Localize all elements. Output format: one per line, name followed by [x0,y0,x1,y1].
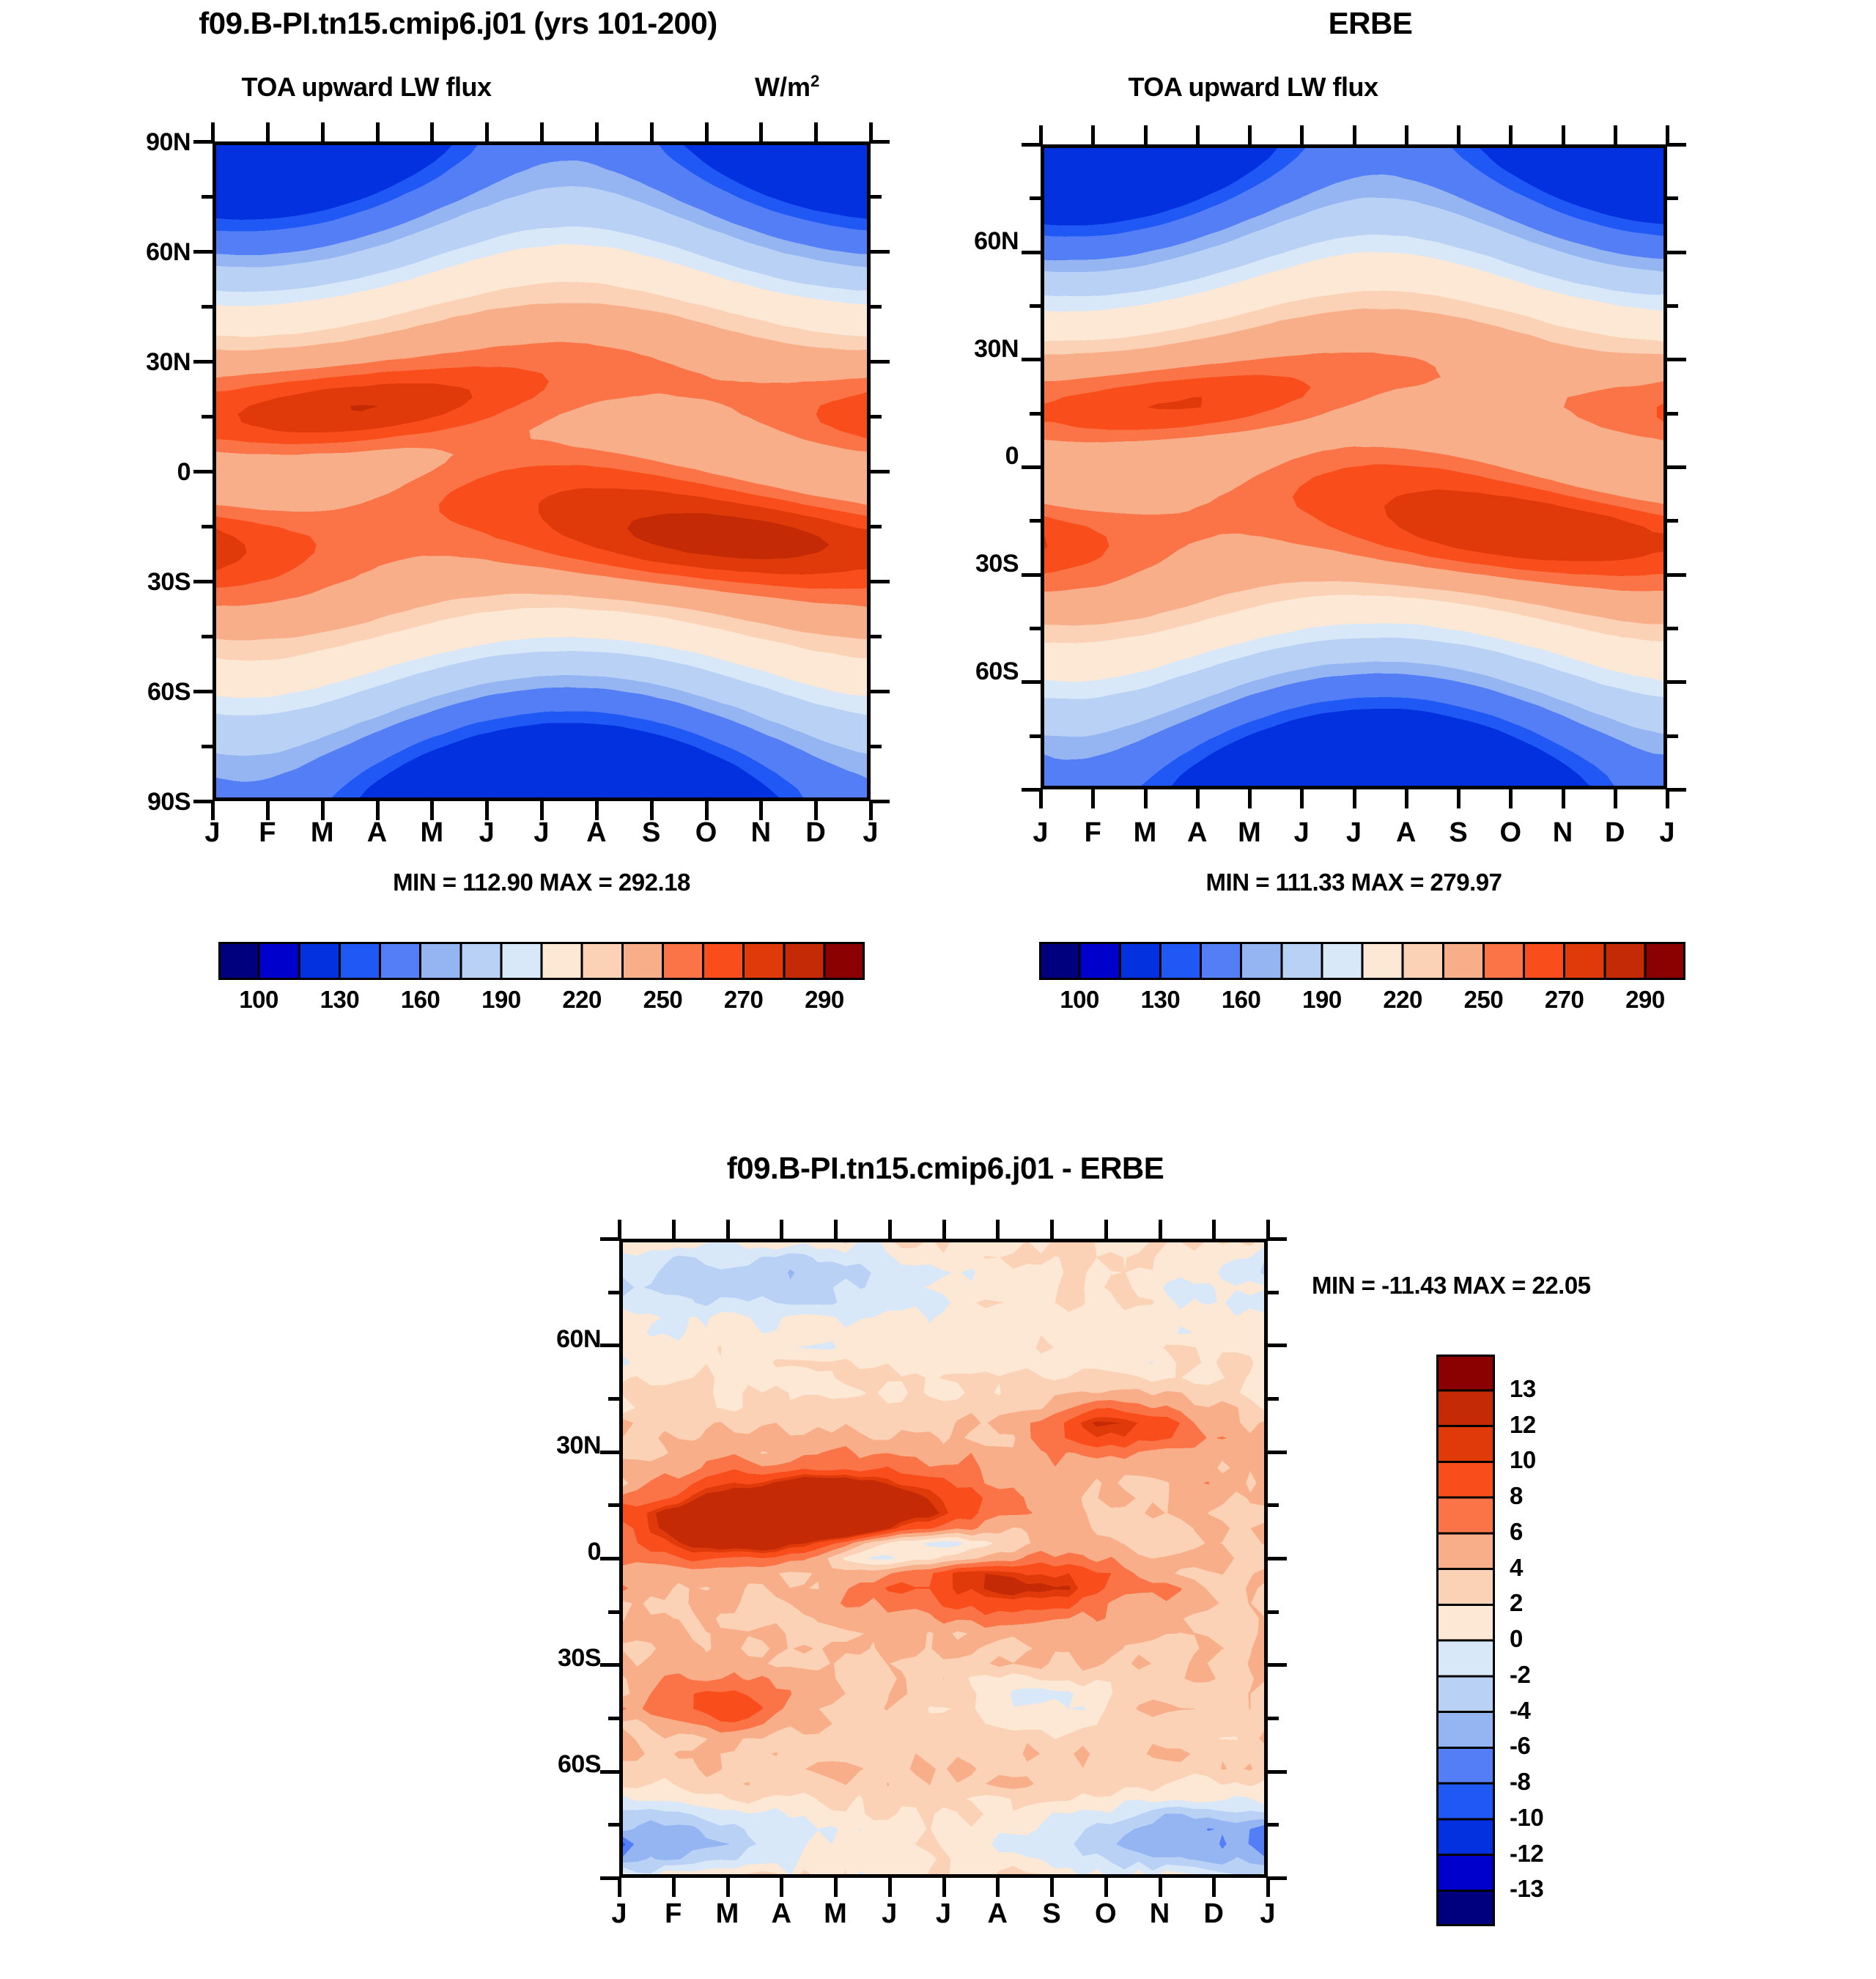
x-tick [1457,789,1460,808]
x-tick [1196,125,1200,144]
y-tick [1268,1557,1287,1560]
diff-colorbar-labels: 13121086420-2-4-6-8-10-12-13 [1510,1355,1605,1926]
y-tick [1030,627,1041,630]
diff-colorbar-tick-label: -10 [1510,1804,1605,1832]
x-tick [705,122,709,141]
diff-contour-plot [619,1239,1268,1878]
y-tick [202,415,213,419]
x-tick [996,1220,1000,1239]
diff-colorbar-tick-label: 12 [1510,1411,1605,1439]
y-tick [1268,1503,1279,1507]
obs-colorbar-tick-label: 290 [1605,986,1685,1014]
y-tick [1268,1237,1287,1241]
y-tick [193,800,213,803]
x-tick [942,1878,946,1897]
model-colorbar-tick-label: 100 [218,986,299,1014]
y-tick [193,140,213,144]
obs-colorbar-tick-label: 250 [1443,986,1524,1014]
x-tick [1212,1878,1216,1897]
obs-colorbar[interactable] [1039,942,1685,980]
model-colorbar-tick-label: 130 [299,986,380,1014]
model-month-label: J [523,817,560,849]
model-month-label: O [688,817,725,849]
obs-month-label: J [1283,817,1320,849]
y-tick [1268,1344,1287,1347]
y-tick [871,360,890,364]
model-ylabel-60S: 60S [110,678,191,707]
y-tick [1030,734,1041,738]
y-tick [1667,196,1678,200]
diff-colorbar-tick-label: 6 [1510,1518,1605,1546]
model-month-label: D [797,817,834,849]
model-colorbar-tick-label: 290 [784,986,865,1014]
model-month-label: M [413,817,450,849]
y-tick [193,360,213,364]
obs-colorbar-tick-label: 220 [1362,986,1443,1014]
diff-month-label: O [1087,1898,1124,1930]
x-tick [1666,789,1669,808]
y-tick [1667,573,1686,577]
y-tick [608,1397,619,1401]
y-tick [193,470,213,473]
model-contour-plot [213,141,871,801]
model-colorbar[interactable] [218,942,865,980]
diff-month-label: M [709,1898,746,1930]
x-tick [726,1878,730,1897]
x-tick [780,1878,783,1897]
obs-colorbar-tick-label: 190 [1282,986,1362,1014]
x-tick [1353,125,1356,144]
y-tick [202,305,213,309]
x-tick [942,1220,946,1239]
obs-colorbar-tick-label: 270 [1524,986,1605,1014]
y-tick [1022,680,1041,684]
x-tick [1266,1878,1270,1897]
diff-ylabel-30S: 30S [513,1644,601,1673]
x-tick [1562,789,1565,808]
y-tick [1667,251,1686,254]
y-tick [1667,734,1678,738]
y-tick [871,800,890,803]
x-tick [869,122,873,141]
y-tick [1022,788,1041,792]
model-colorbar-tick-label: 250 [622,986,703,1014]
x-tick [888,1878,892,1897]
x-tick [266,122,270,141]
y-tick [1022,143,1041,147]
x-tick [1050,1220,1054,1239]
y-tick [871,635,882,638]
y-tick [1667,358,1686,361]
diff-colorbar-tick-label: 13 [1510,1375,1605,1403]
obs-ylabel-60S: 60S [931,657,1019,686]
diff-ylabel-60S: 60S [513,1750,601,1779]
y-tick [202,195,213,199]
y-tick [1667,412,1678,416]
model-colorbar-tick-label: 160 [380,986,461,1014]
y-tick [193,690,213,693]
y-tick [1022,573,1041,577]
diff-minmax-label: MIN = -11.43 MAX = 22.05 [1312,1272,1591,1300]
model-month-label: N [742,817,779,849]
y-tick [193,580,213,583]
y-tick [1667,788,1686,792]
diff-colorbar-tick-label: 10 [1510,1446,1605,1474]
y-tick [1268,1770,1287,1774]
x-tick [485,122,489,141]
x-tick [430,122,434,141]
x-tick [814,122,818,141]
x-tick [1212,1220,1216,1239]
y-tick [1030,196,1041,200]
y-tick [1268,1823,1279,1827]
obs-colorbar-tick-label: 160 [1201,986,1282,1014]
y-tick [1022,465,1041,469]
y-tick [871,195,882,199]
x-tick [672,1220,676,1239]
y-tick [600,1237,619,1241]
diff-month-label: M [817,1898,854,1930]
model-colorbar-tick-label: 270 [703,986,784,1014]
obs-ylabel-30N: 30N [931,335,1019,364]
x-tick [726,1220,730,1239]
y-tick [871,470,890,473]
x-tick [1104,1878,1108,1897]
obs-ylabel-60N: 60N [931,227,1019,256]
x-tick [1300,125,1304,144]
x-tick [1050,1878,1054,1897]
diff-month-label: A [763,1898,799,1930]
x-tick [780,1220,783,1239]
y-tick [1030,519,1041,523]
x-tick [1248,125,1252,144]
x-tick [834,1220,838,1239]
y-tick [600,1344,619,1347]
y-tick [193,250,213,254]
y-tick [871,580,890,583]
x-tick [321,122,325,141]
x-tick [834,1878,838,1897]
model-colorbar-tick-label: 220 [542,986,622,1014]
y-tick [871,745,882,748]
model-ylabel-60N: 60N [110,238,191,267]
model-panel-title: f09.B-PI.tn15.cmip6.j01 (yrs 101-200) [0,6,916,41]
diff-colorbar-tick-label: 0 [1510,1625,1605,1653]
y-tick [1667,519,1678,523]
obs-colorbar-tick-label: 100 [1039,986,1120,1014]
y-tick [871,415,882,419]
x-tick [1509,789,1513,808]
obs-month-label: A [1179,817,1216,849]
model-month-label: F [249,817,286,849]
diff-month-label: J [871,1898,908,1930]
model-ylabel-30N: 30N [110,348,191,377]
y-tick [1022,251,1041,254]
y-tick [1268,1610,1279,1614]
y-tick [1268,1397,1279,1401]
y-tick [1667,465,1686,469]
x-tick [1104,1220,1108,1239]
obs-month-label: N [1545,817,1581,849]
diff-colorbar-tick-label: -12 [1510,1840,1605,1868]
x-tick [1509,125,1513,144]
diff-colorbar-tick-label: 8 [1510,1482,1605,1510]
y-tick [202,745,213,748]
x-tick [540,122,544,141]
x-tick [1159,1878,1162,1897]
y-tick [1030,412,1041,416]
diff-ylabel-60N: 60N [513,1325,601,1354]
model-colorbar-labels: 100130160190220250270290 [218,986,865,1022]
y-tick [1268,1663,1287,1667]
model-month-label: S [633,817,670,849]
flux-units-label: W/m2 [755,72,819,103]
diff-colorbar-tick-label: 2 [1510,1589,1605,1617]
y-tick [1667,680,1686,684]
y-tick [871,250,890,254]
x-tick [1666,125,1669,144]
model-month-label: A [578,817,615,849]
x-tick [1144,125,1148,144]
x-tick [672,1878,676,1897]
model-colorbar-tick-label: 190 [461,986,542,1014]
obs-month-label: A [1388,817,1425,849]
diff-month-label: S [1033,1898,1070,1930]
diff-colorbar-tick-label: -8 [1510,1768,1605,1796]
diff-colorbar-tick-label: -2 [1510,1661,1605,1689]
y-tick [202,635,213,638]
y-tick [871,305,882,309]
obs-contour-plot [1041,144,1667,789]
x-tick [1091,125,1095,144]
obs-colorbar-labels: 100130160190220250270290 [1039,986,1685,1022]
diff-colorbar-tick-label: -4 [1510,1697,1605,1725]
y-tick [1030,304,1041,308]
model-minmax-label: MIN = 112.90 MAX = 292.18 [213,869,871,896]
diff-month-label: J [1249,1898,1286,1930]
x-tick [1196,789,1200,808]
x-tick [650,122,654,141]
model-month-label: M [304,817,341,849]
x-tick [1159,1220,1162,1239]
x-tick [211,122,215,141]
x-tick [1353,789,1356,808]
x-tick [1039,789,1043,808]
obs-month-label: S [1440,817,1477,849]
obs-ylabel-0: 0 [931,442,1019,471]
obs-month-label: O [1492,817,1529,849]
obs-colorbar-tick-label: 130 [1120,986,1200,1014]
obs-month-label: M [1231,817,1268,849]
y-tick [202,525,213,528]
x-tick [1405,125,1408,144]
y-tick [1667,627,1678,630]
x-tick [888,1220,892,1239]
obs-ylabel-30S: 30S [931,550,1019,578]
y-tick [608,1717,619,1720]
x-tick [595,122,599,141]
model-ylabel-90S: 90S [110,788,191,817]
diff-month-label: N [1142,1898,1178,1930]
x-tick [618,1878,621,1897]
model-ylabel-30S: 30S [110,568,191,597]
diff-panel-title: f09.B-PI.tn15.cmip6.j01 - ERBE [388,1151,1502,1186]
model-month-label: J [468,817,505,849]
model-month-label: J [852,817,889,849]
x-tick [1248,789,1252,808]
y-tick [600,1451,619,1454]
y-tick [608,1823,619,1827]
x-tick [1091,789,1095,808]
diff-ylabel-0: 0 [513,1538,601,1566]
y-tick [608,1291,619,1294]
obs-month-label: M [1127,817,1164,849]
y-tick [871,140,890,144]
diff-colorbar-tick-label: 4 [1510,1554,1605,1582]
x-tick [1405,789,1408,808]
diff-colorbar-tick-label: -13 [1510,1875,1605,1903]
x-tick [618,1220,621,1239]
model-ylabel-0: 0 [110,458,191,487]
x-tick [1562,125,1565,144]
x-tick [996,1878,1000,1897]
diff-month-label: A [979,1898,1016,1930]
model-month-label: J [194,817,231,849]
diff-colorbar-tick-label: -6 [1510,1732,1605,1760]
obs-month-label: J [1022,817,1059,849]
obs-month-label: D [1597,817,1633,849]
y-tick [600,1876,619,1880]
x-tick [1457,125,1460,144]
y-tick [1022,358,1041,361]
x-tick [1614,125,1617,144]
x-tick [1144,789,1148,808]
x-tick [1039,125,1043,144]
obs-panel-subtitle: TOA upward LW flux [1026,72,1480,103]
obs-month-label: F [1074,817,1111,849]
obs-panel-title: ERBE [1041,6,1700,41]
y-tick [1667,143,1686,147]
model-month-label: A [359,817,396,849]
y-tick [1667,304,1678,308]
y-tick [600,1557,619,1560]
model-panel-subtitle: TOA upward LW flux [132,72,601,103]
y-tick [608,1503,619,1507]
y-tick [1268,1451,1287,1454]
y-tick [871,525,882,528]
diff-colorbar[interactable] [1436,1355,1495,1926]
x-tick [1300,789,1304,808]
y-tick [871,690,890,693]
diff-month-label: D [1195,1898,1232,1930]
x-tick [759,122,763,141]
y-tick [600,1663,619,1667]
y-tick [1268,1717,1279,1720]
x-tick [1266,1220,1270,1239]
obs-minmax-label: MIN = 111.33 MAX = 279.97 [1041,869,1667,896]
obs-month-label: J [1336,817,1373,849]
y-tick [608,1610,619,1614]
x-tick [376,122,380,141]
model-ylabel-90N: 90N [110,128,191,157]
x-tick [1614,789,1617,808]
diff-month-label: F [655,1898,692,1930]
diff-ylabel-30N: 30N [513,1431,601,1460]
obs-month-label: J [1649,817,1685,849]
diff-month-label: J [601,1898,638,1930]
y-tick [1268,1291,1279,1294]
diff-month-label: J [926,1898,962,1930]
y-tick [600,1770,619,1774]
y-tick [1268,1876,1287,1880]
